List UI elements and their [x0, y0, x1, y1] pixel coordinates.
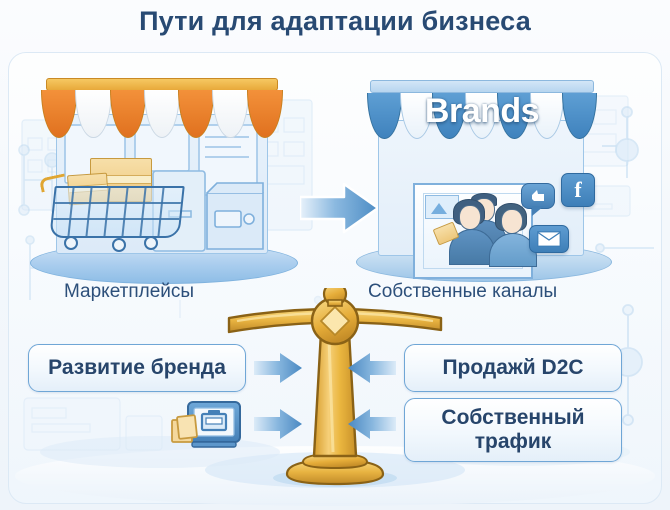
own-channels-storefront: f Brands [368, 80, 596, 263]
shopping-cart-icon [38, 158, 218, 268]
monitor-with-boxes-icon [170, 398, 242, 456]
cart-wheel [64, 236, 78, 250]
chip-label: Развитие бренда [48, 356, 226, 380]
facebook-icon: f [561, 173, 595, 207]
arrow-left-icon [348, 352, 396, 384]
envelope-icon [529, 225, 569, 253]
chip-label: Продажй D2C [442, 356, 583, 380]
cart-wheel [144, 236, 158, 250]
arrow-right-icon [254, 352, 302, 384]
store-sign-text: Brands [368, 92, 596, 131]
chip-label-line2: трафик [475, 430, 552, 453]
arrow-right-icon [254, 408, 302, 440]
marketplace-label: Маркетплейсы [64, 281, 194, 303]
awning-stripes [42, 90, 282, 138]
chip-label: Собственный трафик [441, 406, 584, 454]
chip-brand-development[interactable]: Развитие бренда [28, 344, 246, 392]
arrow-right-icon [300, 182, 378, 234]
chip-own-traffic[interactable]: Собственный трафик [404, 398, 622, 462]
page-title: Пути для адаптации бизнеса [0, 6, 670, 37]
cart-basket [49, 186, 184, 238]
arrow-left-icon [348, 408, 396, 440]
cart-wheel [112, 238, 126, 252]
chip-label-line1: Собственный [441, 406, 584, 429]
infographic-canvas: Пути для адаптации бизнеса [0, 0, 670, 510]
store-building: f [378, 120, 584, 256]
thumbs-up-bubble-icon [521, 183, 555, 209]
chip-d2c-sales[interactable]: Продажй D2C [404, 344, 622, 392]
